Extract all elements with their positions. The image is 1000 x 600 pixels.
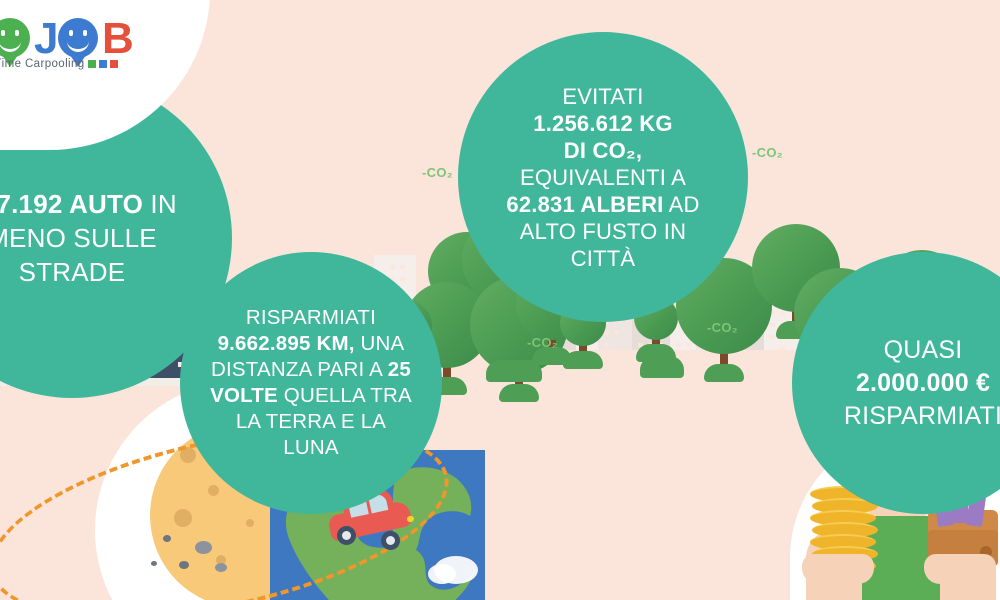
- km-value: 9.662.895 KM,: [218, 332, 355, 355]
- boy-hand-right: [924, 554, 996, 584]
- building-window: [390, 265, 395, 269]
- co2-line3: DI CO₂,: [564, 138, 642, 163]
- boy-hand-left: [802, 554, 874, 584]
- ground-bush: [640, 356, 684, 378]
- logo-pin-blue-icon: [58, 18, 98, 58]
- eur-value: 2.000.000 €: [856, 369, 990, 397]
- ground-bush: [486, 360, 542, 382]
- cars-line3: STRADE: [19, 257, 126, 287]
- stat-bubble-co2-text: EVITATI 1.256.612 KG DI CO₂, EQUIVALENTI…: [496, 83, 709, 272]
- tagline-square-green: [88, 60, 96, 68]
- co2-label: -CO₂: [527, 335, 558, 350]
- eur-line1: QUASI: [884, 336, 963, 364]
- logo-letter-b: B: [102, 16, 134, 62]
- co2-label: -CO₂: [752, 145, 783, 160]
- co2-line7: CITTÀ: [571, 246, 636, 271]
- co2-value: 1.256.612 KG: [533, 111, 672, 136]
- logo-letter-j2: J: [34, 16, 58, 62]
- stat-bubble-cars-text: 567.192 AUTO IN MENO SULLE STRADE: [0, 187, 187, 289]
- co2-line4: EQUIVALENTI A: [520, 165, 686, 190]
- tree-base-bush: [563, 351, 603, 369]
- km-line5: LA TERRA E LA: [236, 410, 386, 433]
- building-window: [400, 277, 405, 281]
- co2-line6: ALTO FUSTO IN: [520, 219, 686, 244]
- co2-line5-light: AD: [664, 192, 700, 217]
- cars-value: 567.192 AUTO: [0, 189, 143, 219]
- km-volte: VOLTE: [210, 384, 278, 407]
- km-line1: RISPARMIATI: [246, 306, 376, 329]
- stat-bubble-co2[interactable]: EVITATI 1.256.612 KG DI CO₂, EQUIVALENTI…: [458, 32, 748, 322]
- km-line4-light: QUELLA TRA: [278, 384, 412, 407]
- km-line6: LUNA: [283, 436, 338, 459]
- tree-base-bush: [704, 364, 744, 382]
- co2-line1: EVITATI: [562, 84, 643, 109]
- tagline-square-blue: [99, 60, 107, 68]
- cars-line2: MENO SULLE: [0, 223, 157, 253]
- cars-line1-light: IN: [143, 189, 177, 219]
- co2-label: -CO₂: [422, 165, 453, 180]
- km-line3-light: DISTANZA PARI A: [211, 358, 388, 381]
- stat-bubble-eur-text: QUASI 2.000.000 € RISPARMIATI: [834, 334, 1000, 433]
- logo-pin-green-icon: [0, 18, 30, 58]
- km-multiplier: 25: [388, 358, 411, 381]
- co2-trees: 62.831 ALBERI: [506, 192, 663, 217]
- infographic-canvas: -CO₂-CO₂-CO₂-CO₂ 567.192 AUTO IN MENO SU…: [0, 0, 1000, 600]
- stat-bubble-km[interactable]: RISPARMIATI 9.662.895 KM, UNA DISTANZA P…: [180, 252, 442, 514]
- tagline-square-red: [110, 60, 118, 68]
- logo-tagline: Real Time Carpooling: [0, 58, 85, 70]
- building-window: [400, 265, 405, 269]
- building-window: [614, 331, 619, 335]
- stat-bubble-km-text: RISPARMIATI 9.662.895 KM, UNA DISTANZA P…: [200, 305, 422, 461]
- km-line2-light: UNA: [355, 332, 405, 355]
- co2-label: -CO₂: [707, 320, 738, 335]
- logo-tagline-row: Real Time Carpooling: [0, 58, 118, 70]
- eur-line3: RISPARMIATI: [844, 402, 1000, 430]
